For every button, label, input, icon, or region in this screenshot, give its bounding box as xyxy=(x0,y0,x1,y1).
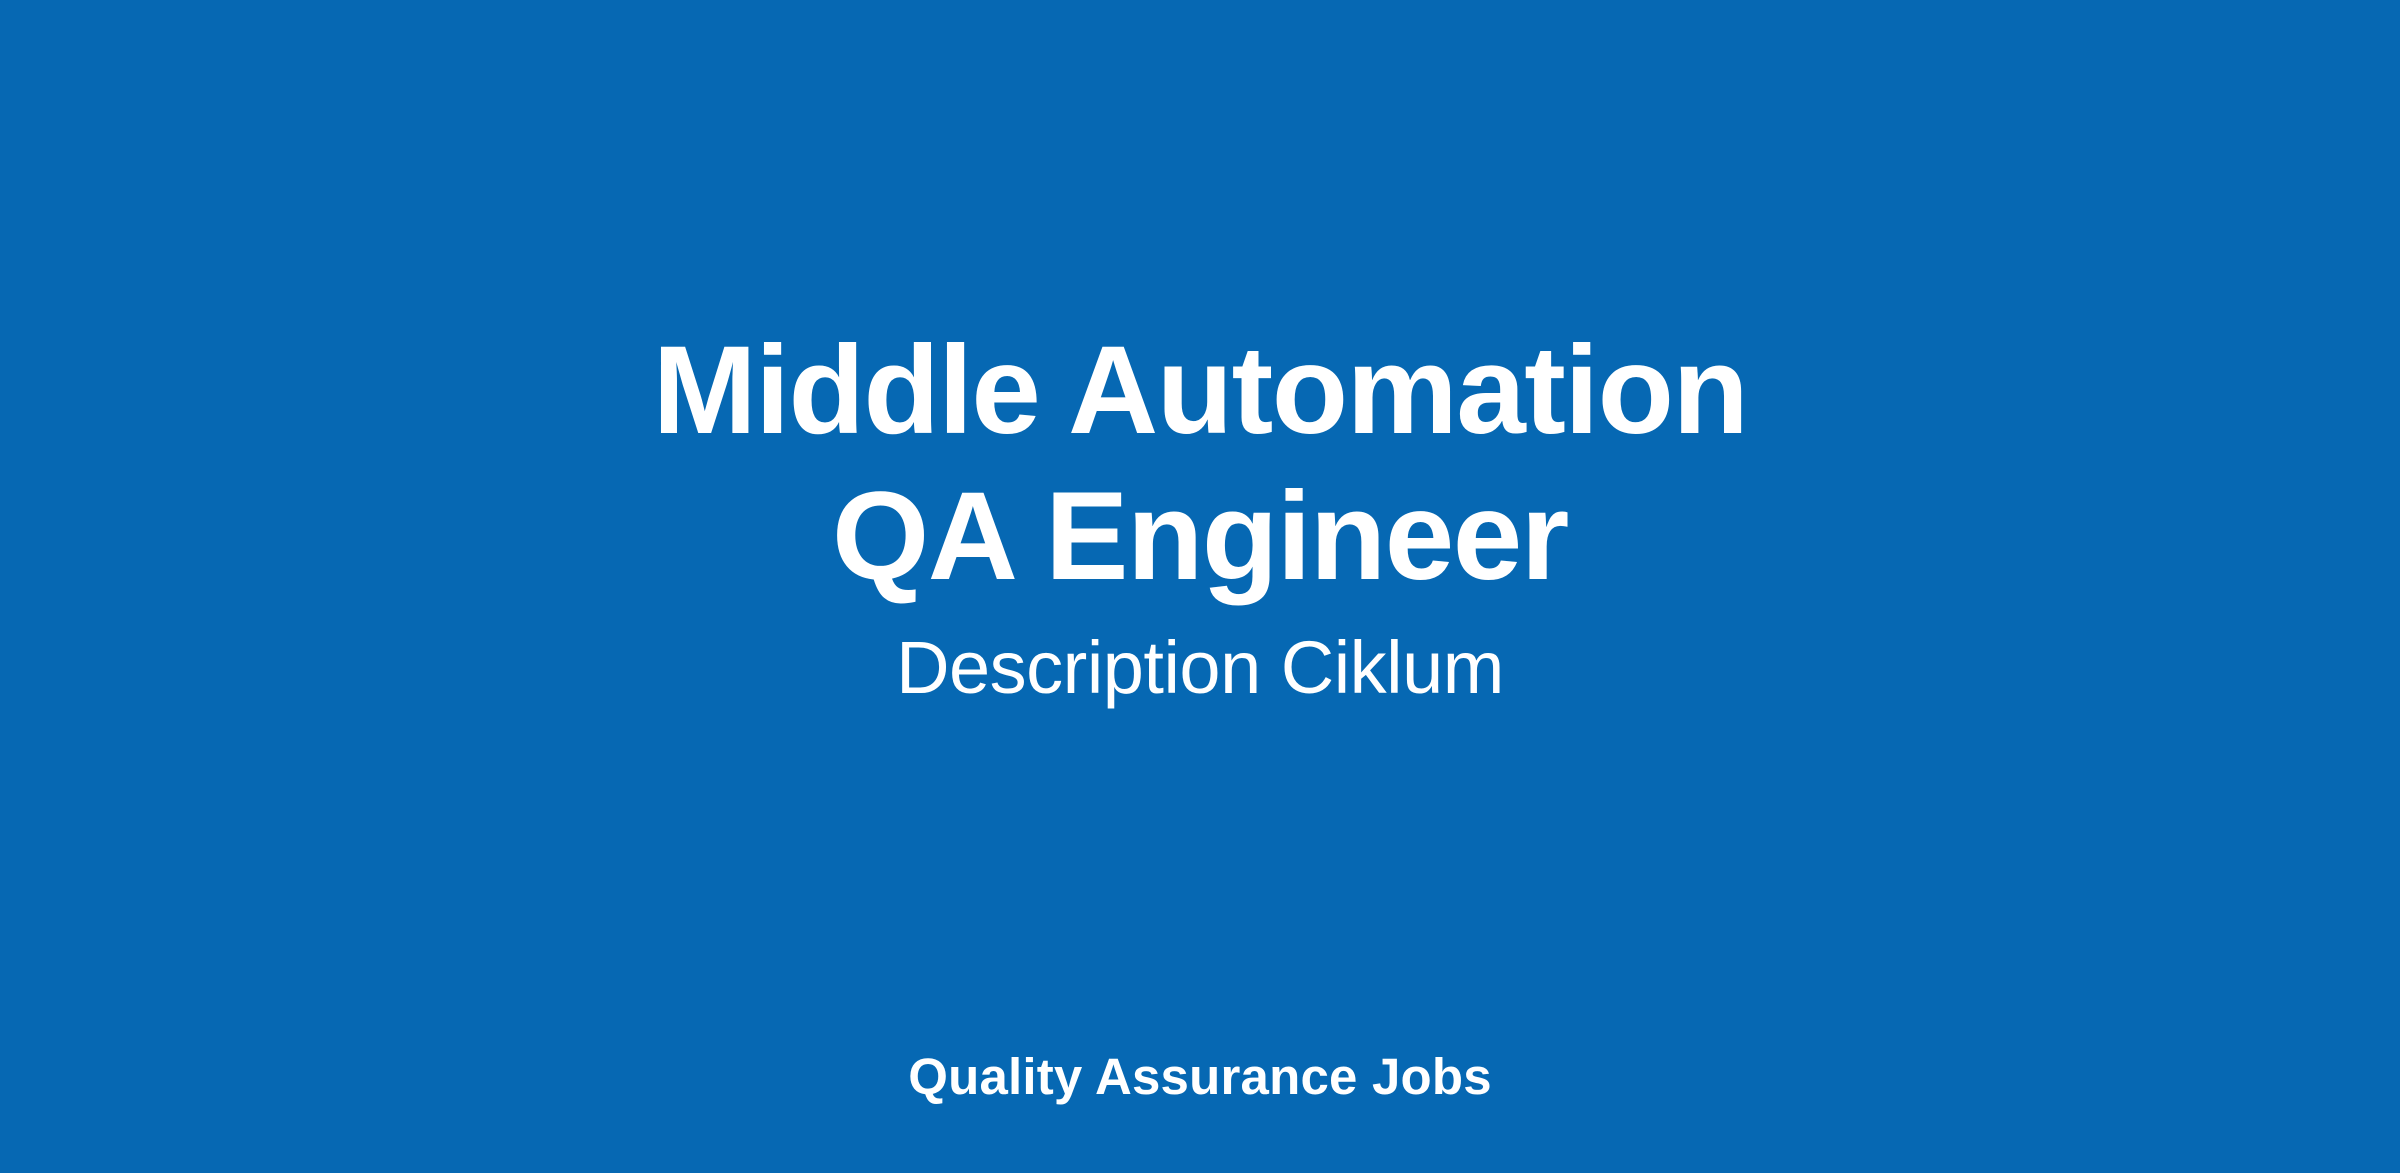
share-card: Middle Automation QA Engineer Descriptio… xyxy=(0,0,2400,1173)
page-subtitle: Description Ciklum xyxy=(300,610,2100,714)
footer-brand-label: Quality Assurance Jobs xyxy=(0,1046,2400,1108)
page-title: Middle Automation QA Engineer xyxy=(550,318,1850,610)
headline-block: Middle Automation QA Engineer Descriptio… xyxy=(0,0,2400,1173)
